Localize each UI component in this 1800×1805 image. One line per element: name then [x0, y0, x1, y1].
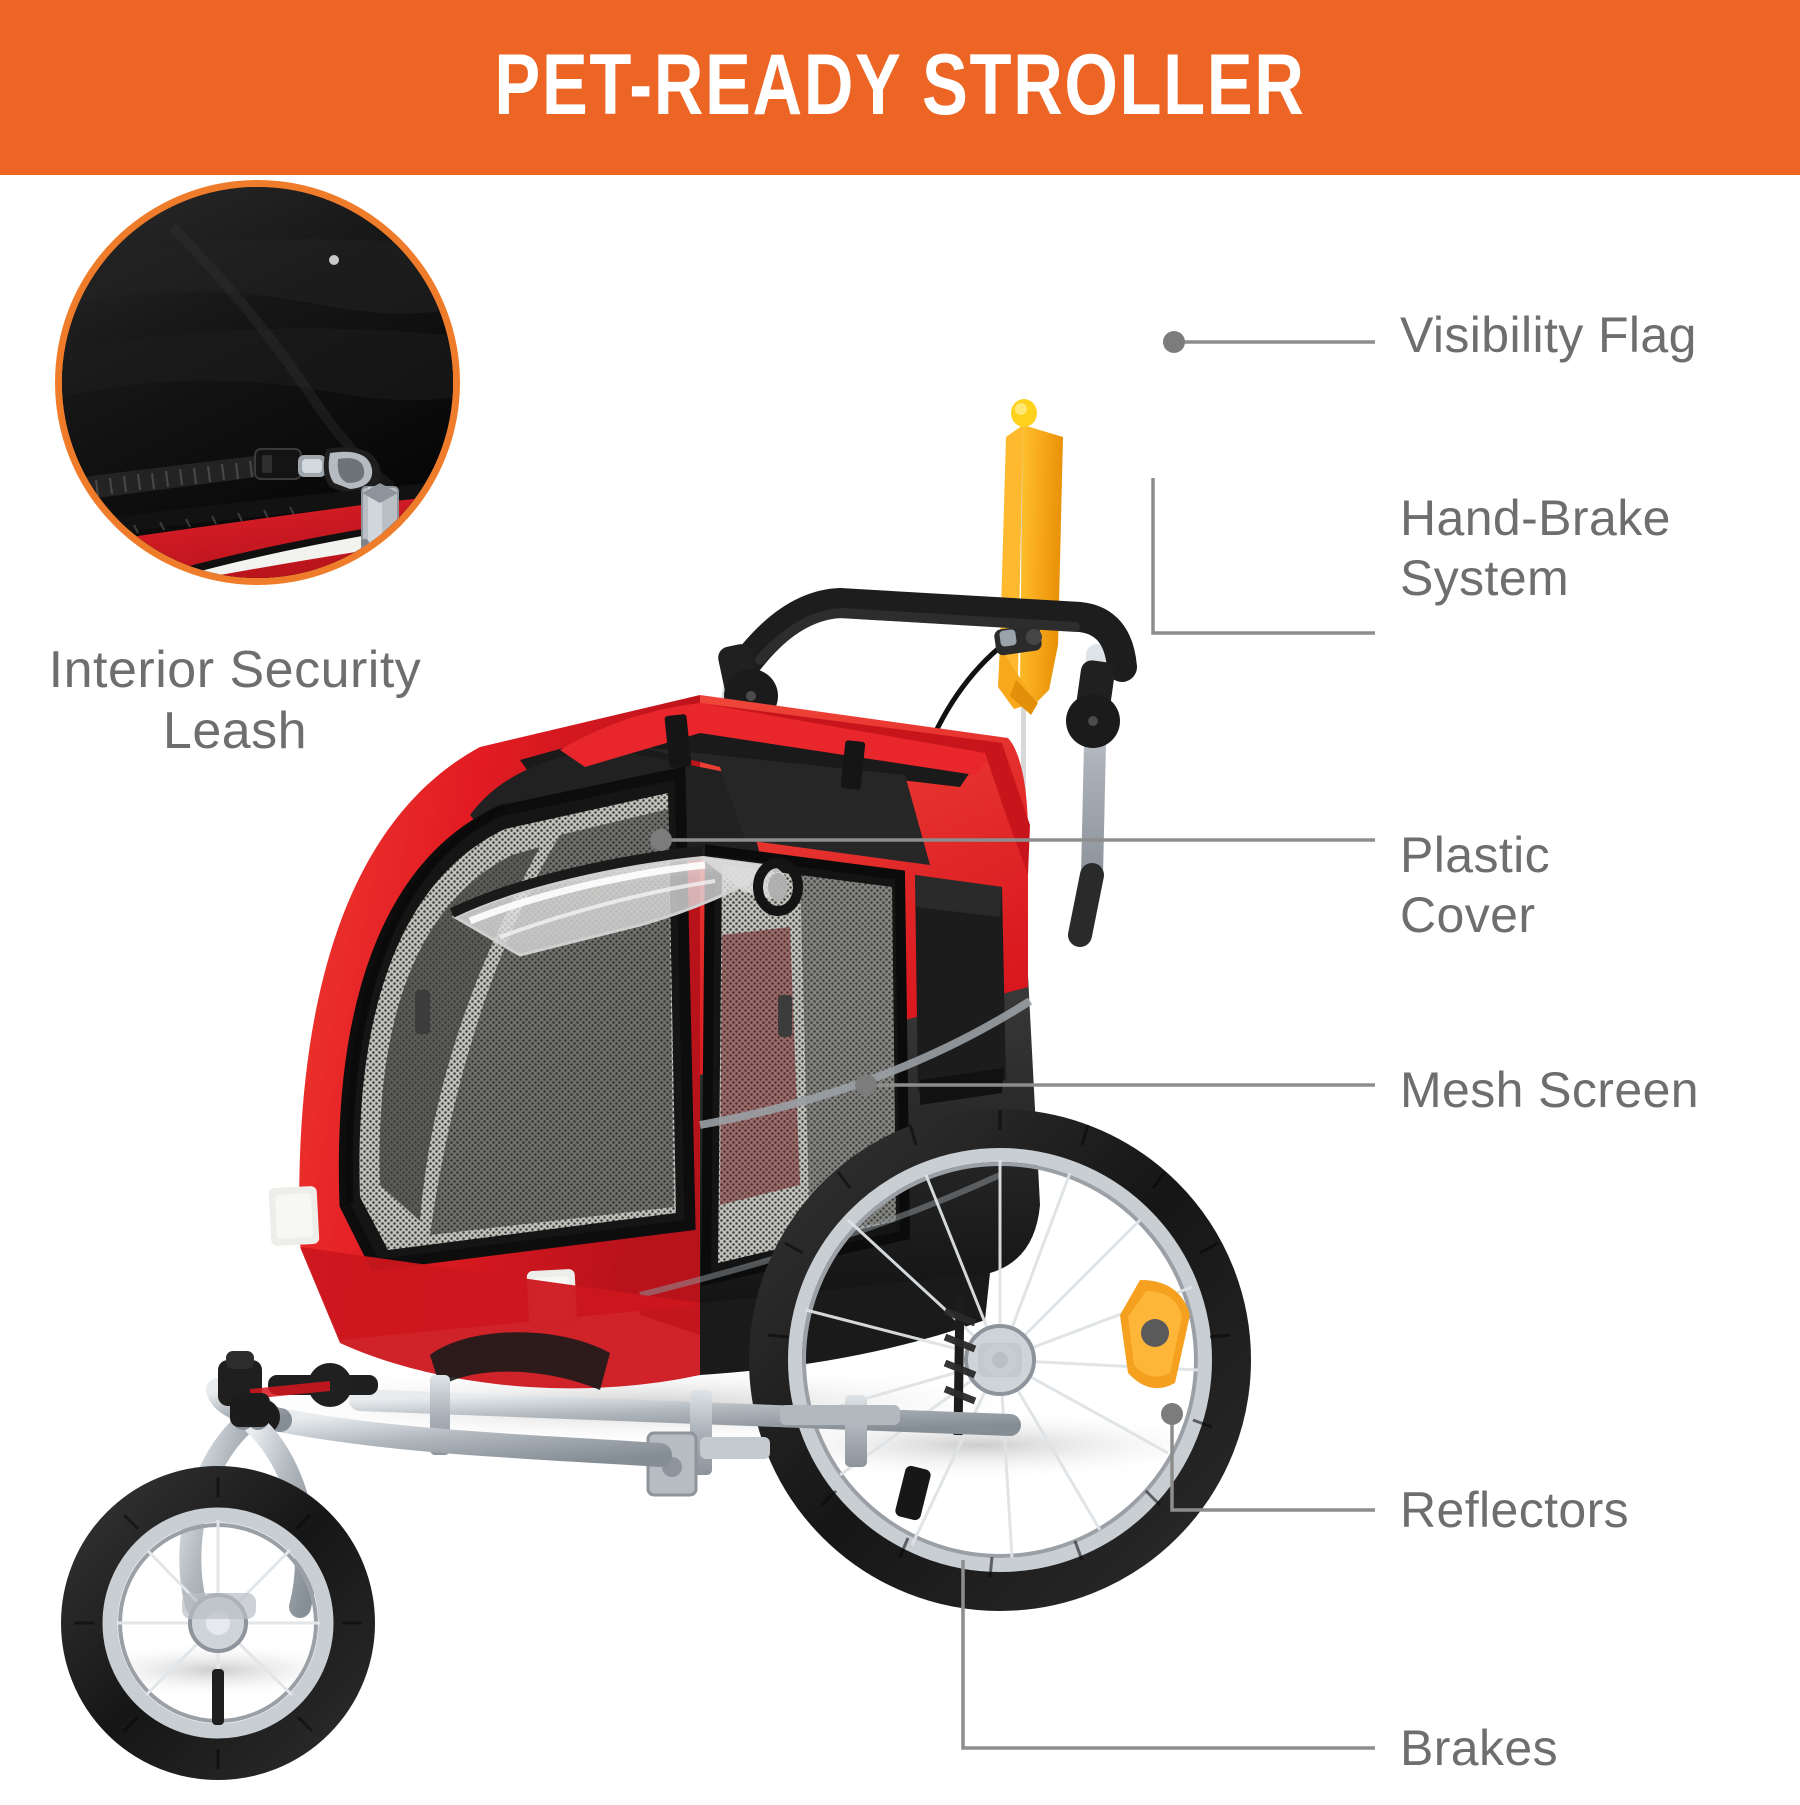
- callout-label-visibility-flag: Visibility Flag: [1400, 305, 1697, 365]
- header-banner: PET-READY STROLLER: [0, 0, 1800, 175]
- page-title: PET-READY STROLLER: [494, 42, 1305, 134]
- storage-pocket: [915, 875, 1006, 1105]
- zipper-pull-front: [415, 990, 430, 1034]
- callout-label-plastic-cover: Plastic Cover: [1400, 825, 1550, 945]
- handle-pivot-right: [1066, 659, 1120, 748]
- callout-label-reflectors: Reflectors: [1400, 1480, 1629, 1540]
- frame-post: [361, 483, 398, 585]
- callout-label-hand-brake: Hand-Brake System: [1400, 488, 1671, 608]
- stroller-body: [269, 695, 1040, 1388]
- inset-svg: [62, 187, 460, 585]
- inset-callout: [55, 180, 460, 585]
- swivel-cap: [230, 1393, 270, 1427]
- inset-caption: Interior Security Leash: [0, 640, 470, 763]
- front-swivel-wheel: [74, 1393, 362, 1769]
- reflector-white-upper: [269, 1186, 320, 1246]
- interior-security-leash-photo: [55, 180, 460, 585]
- callout-label-mesh-screen: Mesh Screen: [1400, 1060, 1699, 1120]
- callout-label-brakes: Brakes: [1400, 1718, 1558, 1778]
- reflector-orange-spoke: [1120, 1280, 1190, 1388]
- zipper-pull-side: [778, 995, 792, 1037]
- valve-stem: [212, 1669, 224, 1725]
